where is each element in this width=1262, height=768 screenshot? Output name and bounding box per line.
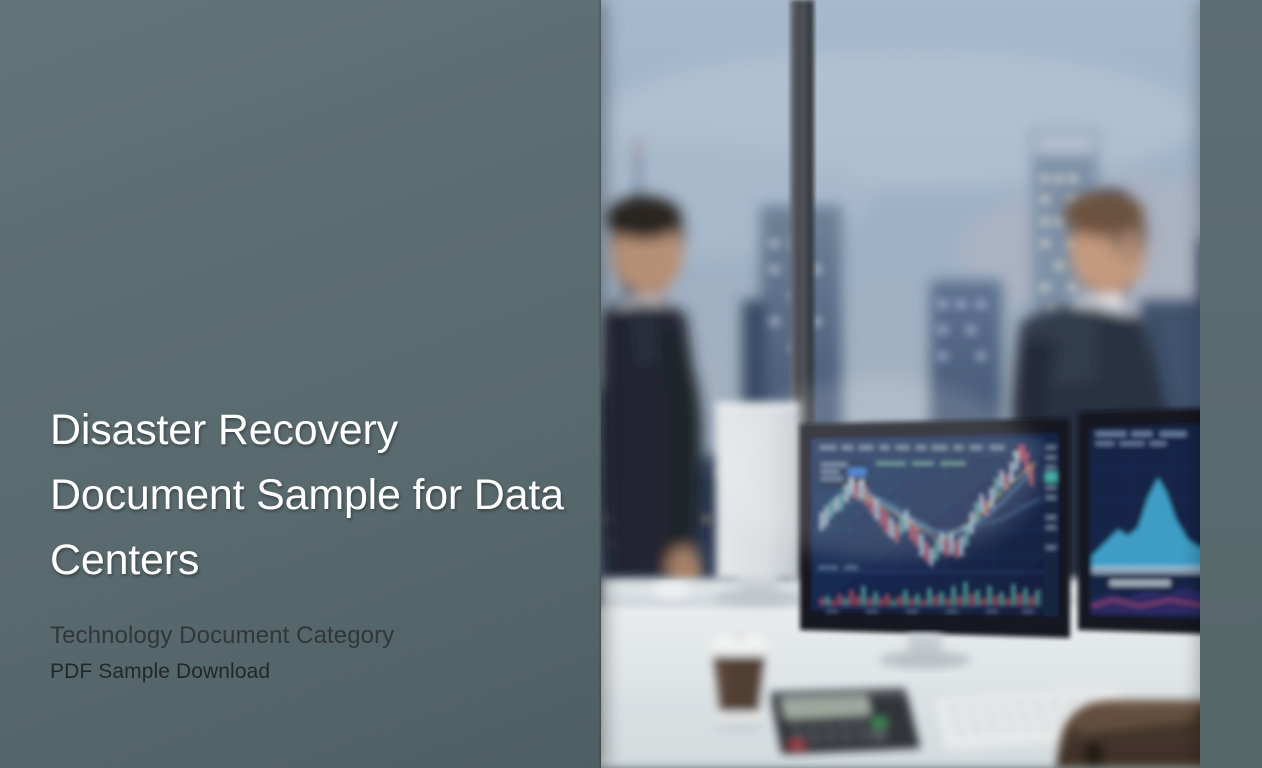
slide-canvas: Disaster Recovery Document Sample for Da… [0,0,1262,768]
right-accent-panel [1200,0,1262,768]
document-subtitle: PDF Sample Download [50,658,595,685]
page-title: Disaster Recovery Document Sample for Da… [50,398,595,593]
title-text-block: Disaster Recovery Document Sample for Da… [50,398,595,685]
document-category: Technology Document Category [50,621,595,651]
